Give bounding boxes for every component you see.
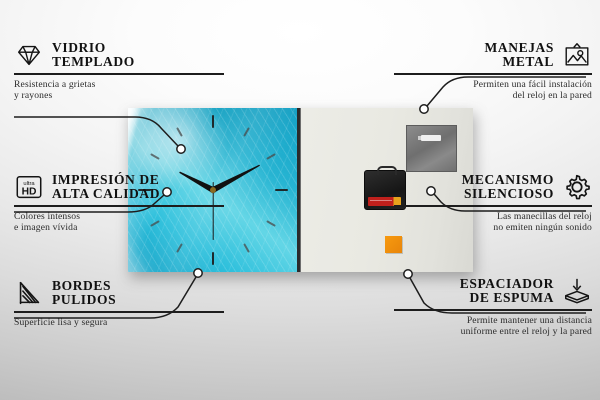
foam-spacer-arrow-icon [562, 276, 592, 306]
feature-title: MANEJAS METAL [485, 41, 554, 70]
feature-description: Superficie lisa y segura [14, 317, 224, 329]
feature-description: Colores intensos e imagen vívida [14, 211, 224, 234]
diamond-icon [14, 40, 44, 70]
feature-description: Permiten una fácil instalación del reloj… [394, 79, 592, 102]
feature-rule [394, 309, 592, 311]
feature-rule [14, 205, 224, 207]
feature-rule [14, 73, 224, 75]
feature-rule [14, 311, 224, 313]
metal-hanger-plate [406, 125, 457, 172]
feature-header: ESPACIADOR DE ESPUMA [394, 276, 592, 306]
svg-text:HD: HD [22, 187, 37, 198]
feature-bordes-pulidos: BORDES PULIDOS Superficie lisa y segura [14, 278, 224, 328]
feature-title: MECANISMO SILENCIOSO [462, 173, 554, 202]
gear-icon [562, 172, 592, 202]
feature-title: BORDES PULIDOS [52, 279, 116, 308]
feature-rule [394, 73, 592, 75]
feature-impresion-alta-calidad: ultra HD IMPRESIÓN DE ALTA CALIDAD Color… [14, 172, 224, 234]
feature-mecanismo-silencioso: MECANISMO SILENCIOSO Las manecillas del … [394, 172, 592, 234]
feature-header: MANEJAS METAL [394, 40, 592, 70]
feature-description: Las manecillas del reloj no emiten ningú… [394, 211, 592, 234]
picture-frame-hanger-icon [562, 40, 592, 70]
feature-header: MECANISMO SILENCIOSO [394, 172, 592, 202]
ultra-hd-icon: ultra HD [14, 172, 44, 202]
feature-description: Resistencia a grietas y rayones [14, 79, 224, 102]
feature-header: VIDRIO TEMPLADO [14, 40, 224, 70]
polished-edges-icon [14, 278, 44, 308]
infographic-canvas: VIDRIO TEMPLADO Resistencia a grietas y … [0, 0, 600, 400]
feature-description: Permite mantener una distancia uniforme … [394, 315, 592, 338]
foam-spacer-pad [385, 236, 402, 253]
feature-title: ESPACIADOR DE ESPUMA [460, 277, 554, 306]
feature-vidrio-templado: VIDRIO TEMPLADO Resistencia a grietas y … [14, 40, 224, 102]
feature-title: IMPRESIÓN DE ALTA CALIDAD [52, 173, 160, 202]
feature-header: BORDES PULIDOS [14, 278, 224, 308]
feature-header: ultra HD IMPRESIÓN DE ALTA CALIDAD [14, 172, 224, 202]
feature-manejas-metal: MANEJAS METAL Permiten una fácil instala… [394, 40, 592, 102]
feature-title: VIDRIO TEMPLADO [52, 41, 135, 70]
feature-espaciador-espuma: ESPACIADOR DE ESPUMA Permite mantener un… [394, 276, 592, 338]
feature-rule [394, 205, 592, 207]
